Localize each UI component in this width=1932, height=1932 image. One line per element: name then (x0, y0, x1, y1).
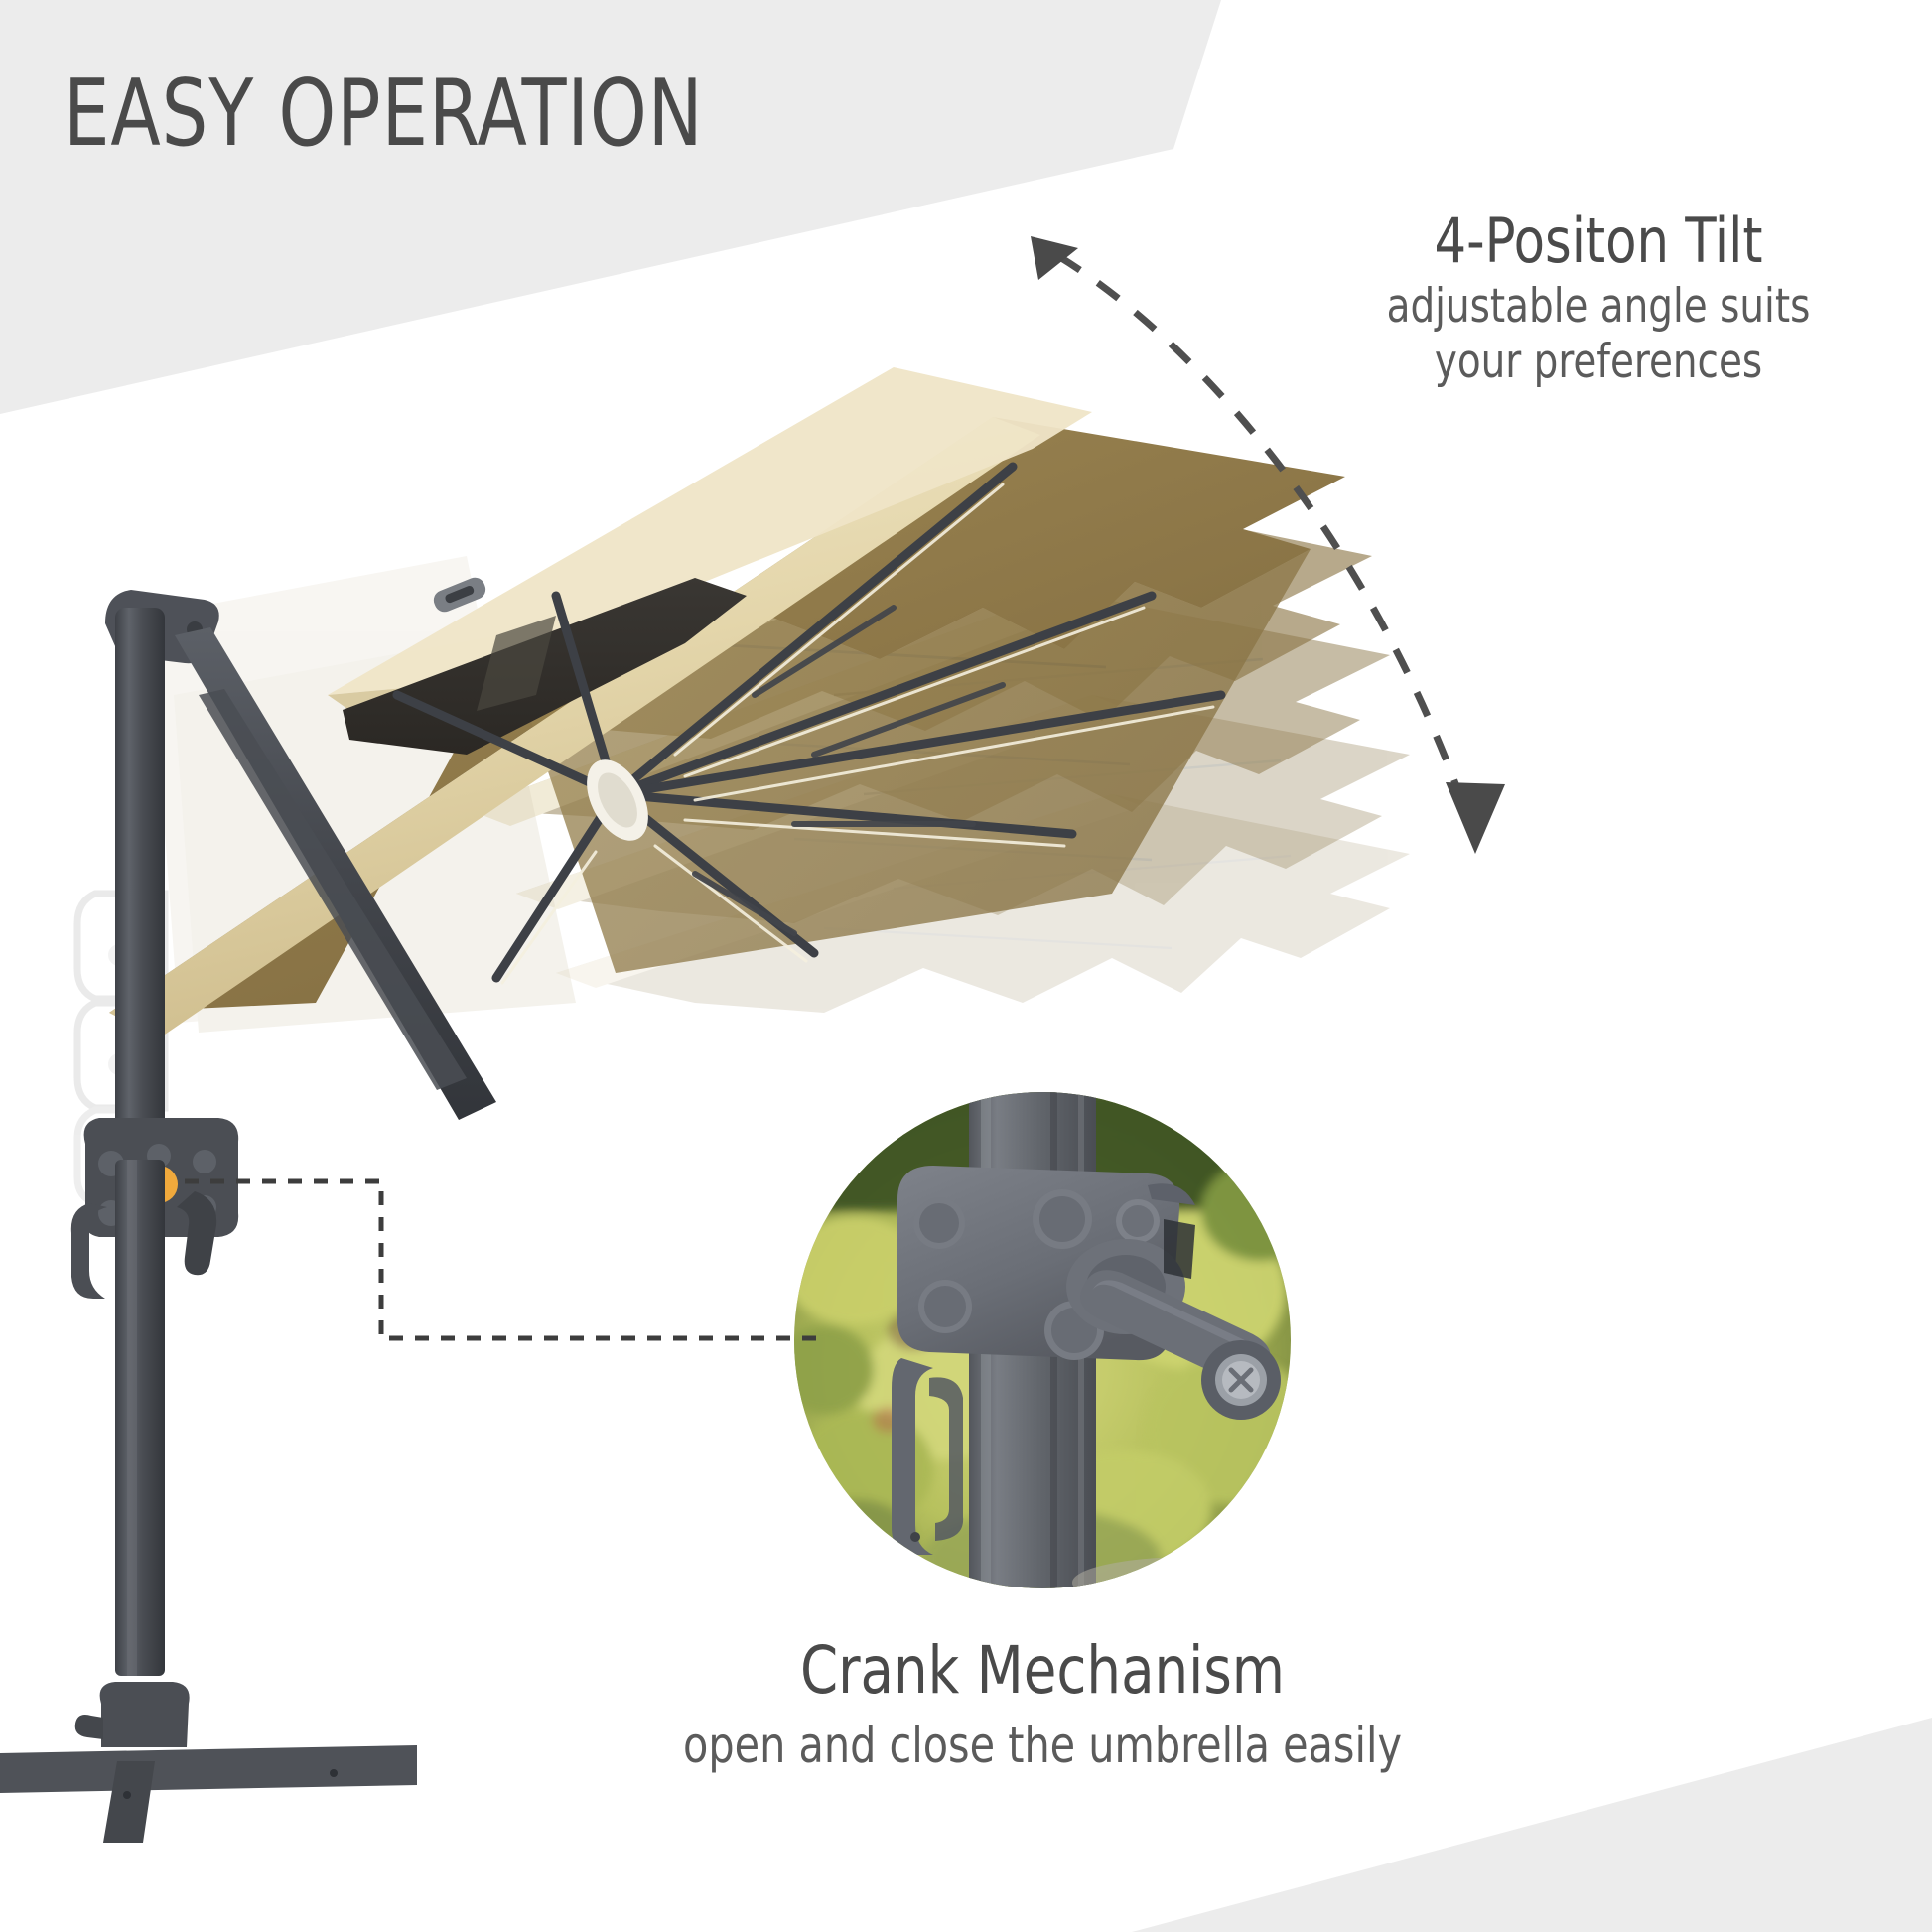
dashed-leader-line-icon (185, 1181, 822, 1338)
annotation-overlay (0, 0, 1932, 1932)
triangle-arrow-down-icon (1446, 782, 1505, 854)
triangle-arrow-left-icon (1031, 236, 1078, 280)
dashed-arc-icon (1058, 256, 1459, 794)
infographic-canvas: EASY OPERATION 4-Positon Tilt adjustable… (0, 0, 1932, 1932)
